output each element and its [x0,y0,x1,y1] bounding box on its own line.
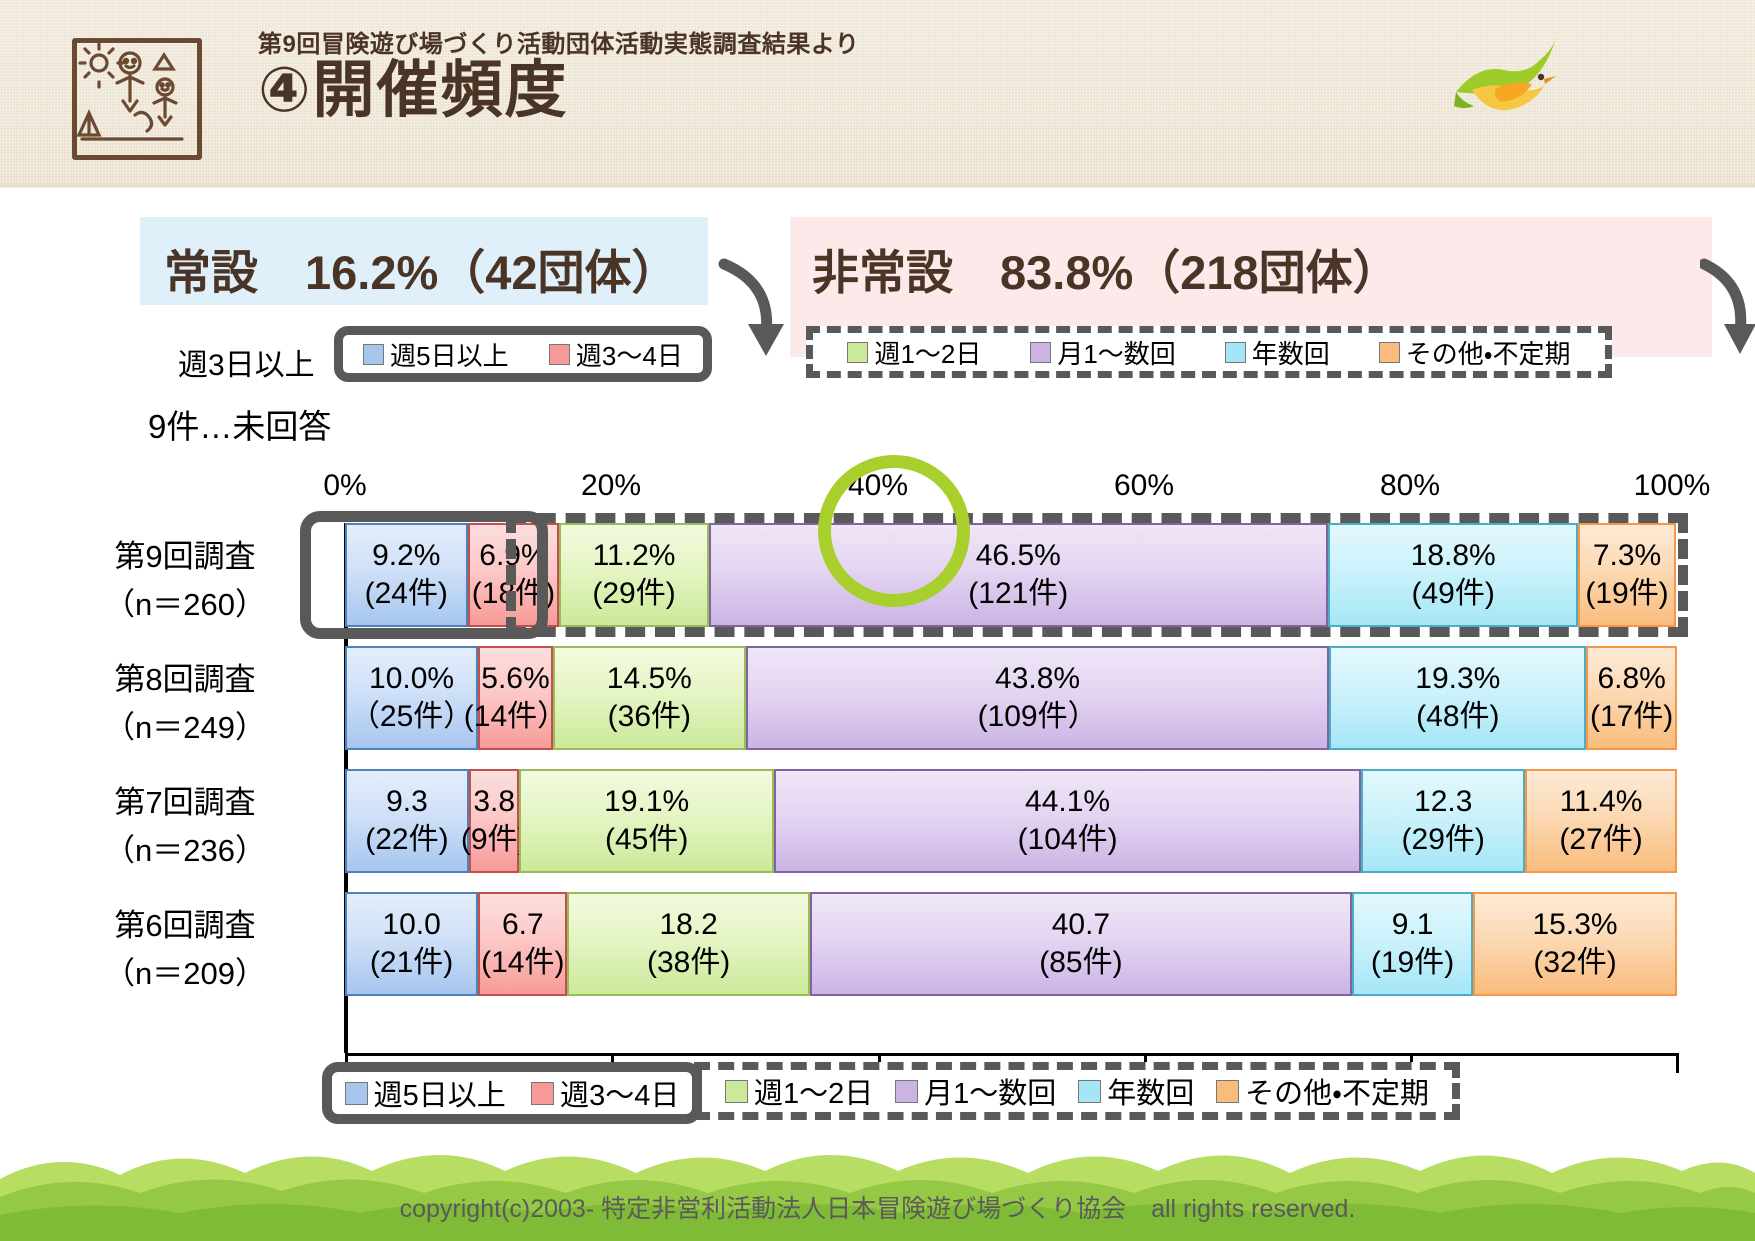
legend-item: 月1～数回 [1030,334,1175,371]
row-label-name: 第6回調査 [55,902,315,950]
x-tick-label: 40% [848,469,908,503]
legend-swatch-icon [895,1080,918,1103]
chart-row: 第6回調査 （n＝209） 10.0 (21件) 6.7 (14件) 18.2 … [345,892,1677,996]
bar-segment[interactable]: 14.5% (36件) [553,646,746,750]
x-tick-label: 80% [1380,469,1440,503]
bar-segment[interactable]: 11.4% (27件) [1525,769,1677,873]
bar-row-9: 9.2% (24件) 6.9% (18件) 11.2% (29件) 46.5% … [345,523,1677,627]
legend-label: 週3～4日 [576,336,683,373]
chart-row: 第8回調査 （n＝249） 10.0% （25件） 5.6% (14件） 14.… [345,646,1677,750]
legend-label: 週3～4日 [560,1072,679,1114]
legend-bottom-permanent: 週5日以上 週3～4日 [322,1062,702,1124]
legend-label: 年数回 [1252,334,1330,371]
segment-count: (104件) [1018,821,1118,859]
segment-percent: 7.3% [1593,537,1661,575]
legend-label: その他・不定期 [1245,1070,1429,1112]
legend-label: 週5日以上 [390,336,508,373]
segment-count: (9件) [461,821,528,859]
legend-item: 週1～2日 [847,334,981,371]
segment-percent: 6.8% [1597,660,1665,698]
row-label-8: 第8回調査 （n＝249） [55,656,315,752]
bar-row-6: 10.0 (21件) 6.7 (14件) 18.2 (38件) 40.7 (85… [345,892,1677,996]
segment-percent: 18.2 [659,906,717,944]
legend-item: 週5日以上 [345,1072,506,1114]
permanent-sublabel: 週3日以上 [178,340,315,384]
bar-segment[interactable]: 9.2% (24件) [345,523,468,627]
segment-percent: 11.4% [1560,783,1643,821]
bar-segment[interactable]: 3.8 (9件) [469,769,520,873]
row-label-9: 第9回調査 （n＝260） [55,533,315,629]
x-tick-label: 100% [1634,469,1711,503]
note-unanswered: 9件…未回答 [148,400,331,448]
legend-swatch-icon [847,342,868,363]
row-label-name: 第7回調査 [55,779,315,827]
segment-percent: 14.5% [607,660,692,698]
x-tick-label: 0% [323,469,366,503]
bar-segment[interactable]: 15.3% (32件) [1473,892,1677,996]
header-subtitle: 第9回冒険遊び場づくり活動団体活動実態調査結果より [258,24,859,59]
segment-percent: 3.8 [473,783,515,821]
legend-swatch-icon [1379,342,1400,363]
segment-percent: 5.6% [481,660,549,698]
segment-percent: 9.3 [386,783,428,821]
summary-permanent-text: 常設 16.2%（42団体） [164,234,679,303]
segment-count: (121件) [968,575,1068,613]
bar-segment[interactable]: 9.3 (22件) [345,769,469,873]
segment-percent: 11.2% [593,537,676,575]
segment-count: (49件) [1412,575,1495,613]
segment-percent: 43.8% [995,660,1080,698]
segment-count: (48件) [1416,698,1499,736]
bird-icon [1448,30,1560,140]
bar-segment[interactable]: 6.9% (18件) [468,523,560,627]
segment-count: (19件) [1371,944,1454,982]
row-label-n: （n＝209） [55,950,315,998]
copyright-footer: copyright(c)2003- 特定非営利活動法人日本冒険遊び場づくり協会 … [0,1189,1755,1225]
x-tick-mark [1676,1053,1679,1073]
summary-nonpermanent-text: 非常設 83.8%（218団体） [812,234,1400,303]
page-title: ④開催頻度 [258,58,569,123]
legend-item: 週5日以上 [363,336,508,373]
segment-percent: 9.2% [372,537,440,575]
legend-item: その他・不定期 [1379,334,1571,371]
legend-item: 週3～4日 [531,1072,679,1114]
bar-segment[interactable]: 43.8% (109件） [746,646,1329,750]
header-band: 第9回冒険遊び場づくり活動団体活動実態調査結果より ④開催頻度 [0,0,1755,188]
segment-count: (29件) [592,575,675,613]
x-axis-tick-labels: 0% 20% 40% 60% 80% 100% [0,469,1755,505]
segment-count: (22件) [365,821,448,859]
segment-percent: 18.8% [1411,537,1496,575]
row-label-n: （n＝249） [55,704,315,752]
legend-swatch-icon [363,344,384,365]
legend-swatch-icon [345,1082,368,1105]
segment-percent: 19.3% [1415,660,1500,698]
row-label-name: 第9回調査 [55,533,315,581]
segment-count: (14件) [481,944,564,982]
segment-count: (45件) [605,821,688,859]
legend-label: 週5日以上 [374,1072,506,1114]
bar-segment[interactable]: 10.0% （25件） [345,646,478,750]
segment-count: (24件) [365,575,448,613]
bar-segment[interactable]: 19.3% (48件) [1329,646,1586,750]
segment-count: (29件) [1402,821,1485,859]
bar-segment[interactable]: 11.2% (29件) [559,523,708,627]
segment-count: (38件) [647,944,730,982]
x-tick-label: 20% [581,469,641,503]
segment-percent: 10.0 [382,906,440,944]
legend-item: 年数回 [1078,1070,1194,1112]
legend-top-nonpermanent: 週1～2日 月1～数回 年数回 その他・不定期 [806,326,1612,378]
bar-segment[interactable]: 46.5% (121件) [709,523,1328,627]
segment-count: (17件) [1590,698,1673,736]
legend-label: 年数回 [1107,1070,1194,1112]
legend-item: その他・不定期 [1216,1070,1429,1112]
segment-count: (27件) [1559,821,1642,859]
legend-item: 週3～4日 [549,336,683,373]
segment-percent: 9.1 [1392,906,1434,944]
playground-stamp-icon [72,38,202,160]
bar-segment[interactable]: 40.7 (85件) [810,892,1352,996]
legend-swatch-icon [1030,342,1051,363]
legend-label: 月1～数回 [924,1070,1056,1112]
legend-item: 週1～2日 [725,1070,873,1112]
legend-swatch-icon [1216,1080,1239,1103]
segment-count: （25件） [350,698,473,736]
legend-item: 月1～数回 [895,1070,1056,1112]
row-label-n: （n＝236） [55,827,315,875]
segment-percent: 6.9% [479,537,547,575]
bar-segment[interactable]: 5.6% (14件） [478,646,553,750]
legend-swatch-icon [725,1080,748,1103]
segment-count: (32件) [1533,944,1616,982]
bar-segment[interactable]: 10.0 (21件) [345,892,478,996]
segment-percent: 40.7 [1052,906,1110,944]
segment-percent: 10.0% [369,660,454,698]
row-label-6: 第6回調査 （n＝209） [55,902,315,998]
legend-bottom-nonpermanent: 週1～2日 月1～数回 年数回 その他・不定期 [694,1062,1460,1120]
bar-segment[interactable]: 12.3 (29件) [1361,769,1525,873]
summary-box-permanent: 常設 16.2%（42団体） [140,217,708,305]
segment-percent: 15.3% [1533,906,1618,944]
segment-percent: 6.7 [502,906,544,944]
legend-swatch-icon [531,1082,554,1105]
bar-segment[interactable]: 6.7 (14件) [478,892,567,996]
segment-count: (14件） [464,698,567,736]
legend-label: 週1～2日 [874,334,981,371]
stacked-bar-chart: 第9回調査 （n＝260） 9.2% (24件) 6.9% (18件) 11.2… [345,523,1677,1053]
legend-label: 月1～数回 [1057,334,1175,371]
segment-percent: 12.3 [1414,783,1472,821]
bar-segment[interactable]: 9.1 (19件) [1352,892,1473,996]
legend-swatch-icon [1225,342,1246,363]
legend-swatch-icon [549,344,570,365]
bar-segment[interactable]: 18.2 (38件) [567,892,809,996]
curved-arrow-down-icon [718,258,790,368]
bar-segment[interactable]: 6.8% (17件) [1586,646,1677,750]
row-label-7: 第7回調査 （n＝236） [55,779,315,875]
segment-percent: 44.1% [1025,783,1110,821]
segment-percent: 46.5% [976,537,1061,575]
segment-percent: 19.1% [604,783,689,821]
curved-arrow-down-icon [1700,258,1755,368]
bar-segment[interactable]: 7.3% (19件) [1578,523,1675,627]
segment-count: (36件) [608,698,691,736]
bar-segment[interactable]: 18.8% (49件) [1328,523,1578,627]
bar-row-7: 9.3 (22件) 3.8 (9件) 19.1% (45件) 44.1% (10… [345,769,1677,873]
bar-segment[interactable]: 44.1% (104件) [774,769,1361,873]
segment-count: (21件) [370,944,453,982]
legend-label: その他・不定期 [1406,334,1571,371]
x-axis-line [345,1053,1679,1056]
segment-count: (19件) [1585,575,1668,613]
bar-segment[interactable]: 19.1% (45件) [519,769,773,873]
legend-item: 年数回 [1225,334,1330,371]
chart-row: 第7回調査 （n＝236） 9.3 (22件) 3.8 (9件) 19.1% (… [345,769,1677,873]
x-tick-label: 60% [1114,469,1174,503]
segment-count: (18件) [472,575,555,613]
chart-row: 第9回調査 （n＝260） 9.2% (24件) 6.9% (18件) 11.2… [345,523,1677,627]
row-label-name: 第8回調査 [55,656,315,704]
segment-count: (85件) [1039,944,1122,982]
legend-label: 週1～2日 [754,1070,873,1112]
segment-count: (109件） [978,698,1098,736]
legend-top-permanent: 週5日以上 週3～4日 [334,326,712,382]
bar-row-8: 10.0% （25件） 5.6% (14件） 14.5% (36件) 43.8%… [345,646,1677,750]
legend-swatch-icon [1078,1080,1101,1103]
row-label-n: （n＝260） [55,581,315,629]
